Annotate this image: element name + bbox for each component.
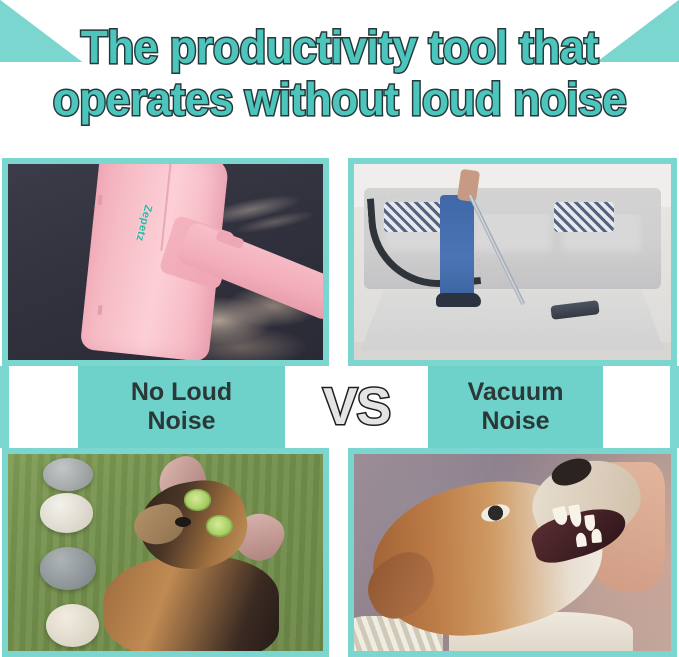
scene-pet-hair-remover: Zepetz (8, 164, 323, 360)
throw-pillow (554, 202, 614, 233)
photo-vacuum-cleaning (348, 158, 677, 366)
headline: The productivity tool that operates with… (14, 22, 666, 125)
band-edge-right (670, 366, 679, 448)
comparison-band: No Loud Noise VS Vacuum Noise (0, 366, 679, 448)
photo-relaxed-dog (2, 448, 329, 657)
scene-relaxed-dog (8, 454, 323, 651)
headline-line-1: The productivity tool that (14, 22, 666, 74)
spa-stone (40, 547, 97, 590)
photo-barking-dog (348, 448, 677, 657)
label-vacuum-noise: Vacuum Noise (428, 366, 603, 448)
roller-ridge-top (97, 195, 102, 205)
label-left-line-2: Noise (147, 407, 215, 437)
dog-nose (175, 517, 191, 527)
person-legs-jeans (440, 195, 475, 301)
headline-line-2: operates without loud noise (14, 74, 666, 126)
label-right-line-2: Noise (481, 407, 549, 437)
dog-tooth (591, 529, 601, 543)
person-shoe (436, 293, 480, 307)
dog-body (103, 556, 279, 651)
photo-pet-hair-remover: Zepetz (2, 158, 329, 366)
label-no-loud-noise: No Loud Noise (78, 366, 285, 448)
roller-ridge-bottom (97, 305, 102, 315)
scene-vacuum-cleaning (354, 164, 671, 360)
label-right-line-1: Vacuum (468, 378, 564, 408)
spa-stone (40, 493, 94, 532)
area-rug (361, 289, 664, 349)
spa-stone (46, 604, 100, 647)
band-edge-left (0, 366, 9, 448)
cucumber-slice (206, 515, 233, 537)
scene-barking-dog (354, 454, 671, 651)
vs-badge: VS (285, 366, 428, 448)
product-comparison-poster: The productivity tool that operates with… (0, 0, 679, 657)
label-left-line-1: No Loud (131, 378, 232, 408)
